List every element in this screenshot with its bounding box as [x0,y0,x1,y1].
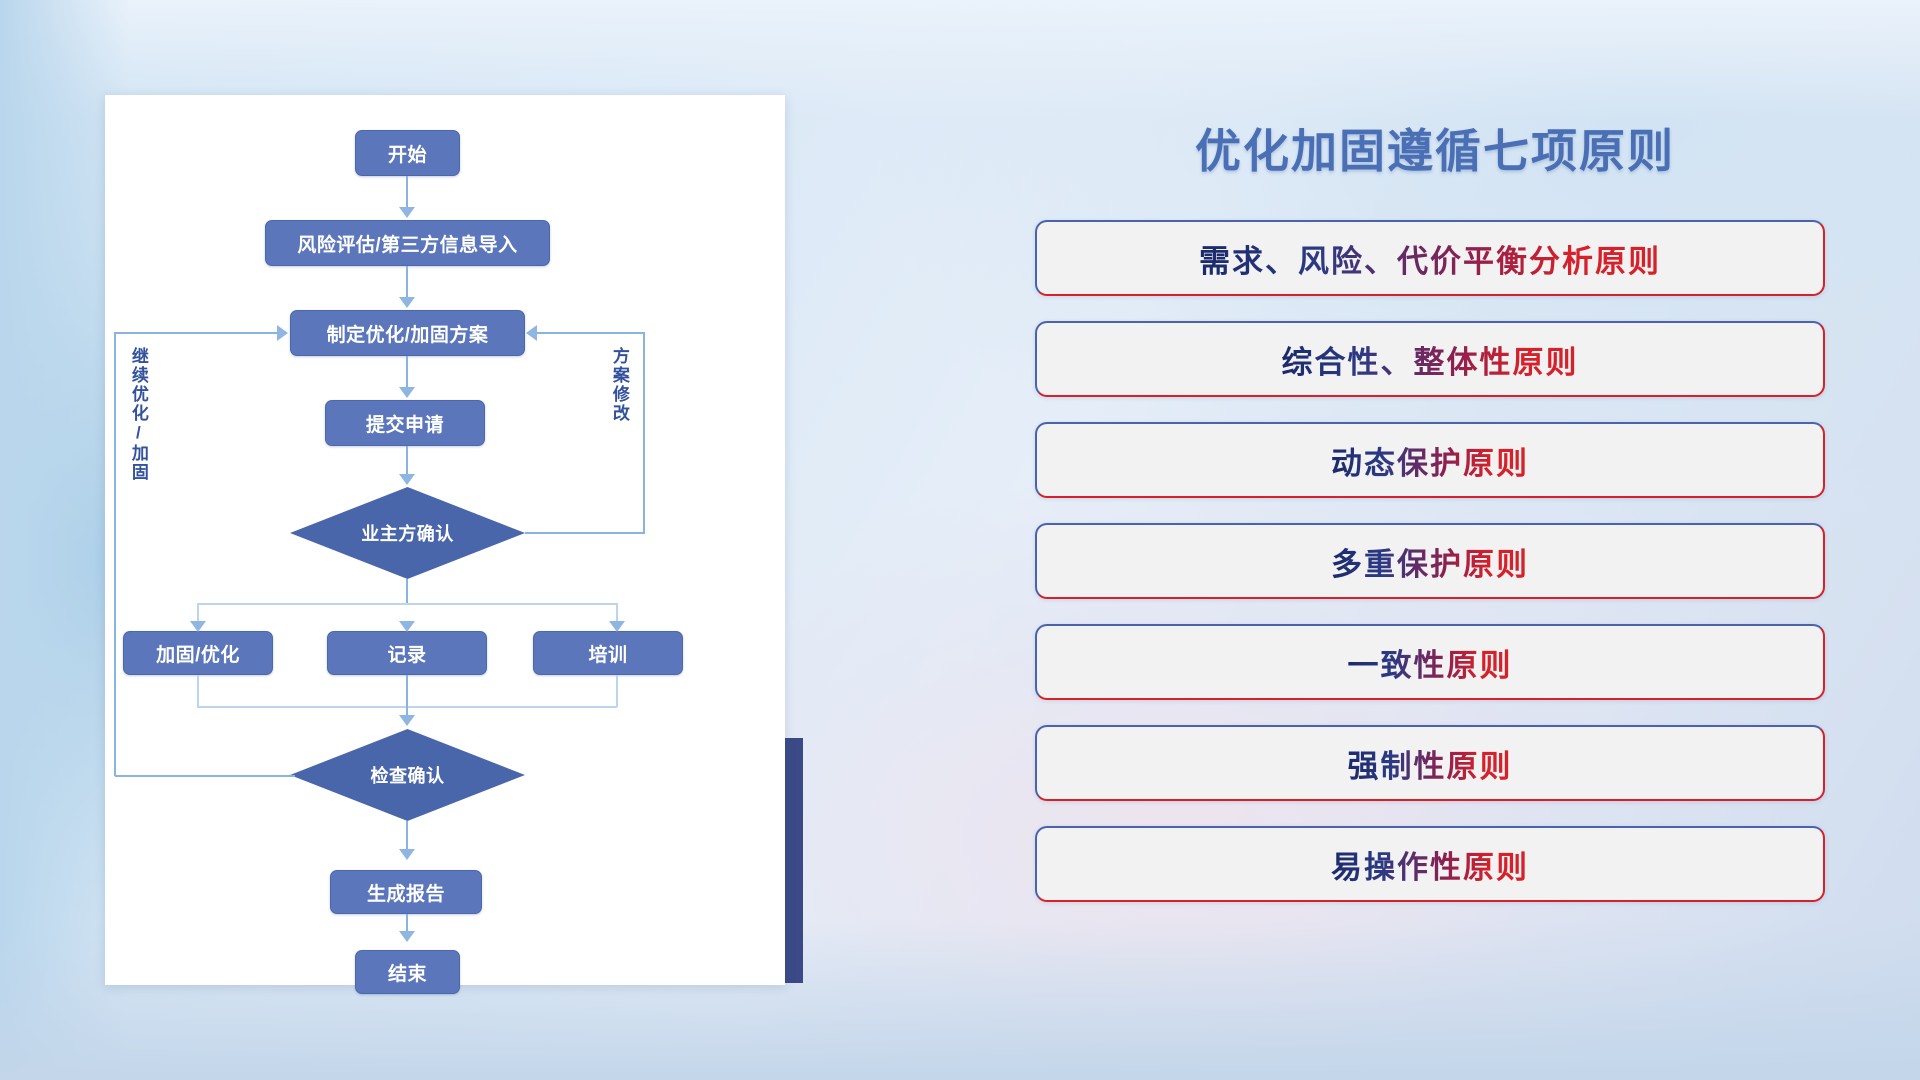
connector-submit-to-owner [406,446,408,476]
principle-card-1[interactable]: 需求、风险、代价平衡分析原则 [1035,220,1825,296]
flow-node-plan[interactable]: 制定优化/加固方案 [290,310,525,356]
flowchart-panel: 开始 风险评估/第三方信息导入 制定优化/加固方案 提交申请 业主方确认 加固/… [105,95,785,985]
connector-record-to-check [406,675,408,717]
principles-section: 优化加固遵循七项原则 需求、风险、代价平衡分析原则 综合性、整体性原则 动态保护… [1020,95,1850,1015]
flow-decision-owner-confirm[interactable]: 业主方确认 [290,487,525,579]
arrow-report-to-end [399,931,415,942]
connector-owner-right [525,532,645,534]
flow-side-label-right-loop: 方案修改 [610,347,628,487]
arrow-start-to-risk [399,207,415,218]
principle-card-7-label: 易操作性原则 [1331,842,1529,887]
flow-node-record[interactable]: 记录 [327,631,487,675]
principle-card-6[interactable]: 强制性原则 [1035,725,1825,801]
flow-node-reinforce-label: 加固/优化 [156,640,240,667]
connector-owner-right-up [643,333,645,533]
arrow-submit-to-owner [399,474,415,485]
flow-node-submit-label: 提交申请 [366,410,444,437]
arrow-to-record [399,621,415,632]
flow-node-training-label: 培训 [588,640,627,667]
flow-node-submit[interactable]: 提交申请 [325,400,485,446]
principle-card-4-label: 多重保护原则 [1331,539,1529,584]
principle-card-2[interactable]: 综合性、整体性原则 [1035,321,1825,397]
arrow-risk-to-plan [399,297,415,308]
connector-owner-down [406,579,408,604]
principles-title: 优化加固遵循七项原则 [1020,115,1850,181]
arrow-to-reinforce [190,621,206,632]
principle-card-1-label: 需求、风险、代价平衡分析原则 [1199,236,1661,281]
principle-card-7[interactable]: 易操作性原则 [1035,826,1825,902]
connector-reinforce-down [197,675,199,707]
connector-right-loop-to-plan [537,332,645,334]
principle-card-5[interactable]: 一致性原则 [1035,624,1825,700]
connector-report-to-end [406,914,408,932]
connector-left-loop-up [114,333,116,776]
principle-card-5-label: 一致性原则 [1348,640,1513,685]
principle-card-2-label: 综合性、整体性原则 [1282,337,1579,382]
flow-node-risk-assessment[interactable]: 风险评估/第三方信息导入 [265,220,550,266]
flow-node-start-label: 开始 [388,140,427,167]
flow-node-record-label: 记录 [387,640,426,667]
arrow-merge-to-check [399,715,415,726]
flow-decision-check[interactable]: 检查确认 [290,729,525,821]
arrow-plan-to-submit [399,387,415,398]
flow-node-reinforce[interactable]: 加固/优化 [123,631,273,675]
connector-plan-to-submit [406,356,408,389]
arrow-to-training [609,621,625,632]
flow-decision-check-label: 检查确认 [371,762,445,788]
flow-side-label-left-loop: 继续优化/加固 [129,347,147,527]
connector-training-down [616,675,618,707]
flow-node-training[interactable]: 培训 [533,631,683,675]
principle-card-4[interactable]: 多重保护原则 [1035,523,1825,599]
arrow-right-loop-to-plan [526,325,537,341]
flow-node-report-label: 生成报告 [367,879,445,906]
connector-check-to-report [406,821,408,851]
flow-node-report[interactable]: 生成报告 [330,870,482,914]
connector-check-left [115,775,295,777]
connector-owner-fanout [197,603,617,605]
connector-risk-to-plan [406,266,408,299]
principle-card-6-label: 强制性原则 [1348,741,1513,786]
flow-node-end[interactable]: 结束 [355,950,460,994]
flow-node-plan-label: 制定优化/加固方案 [327,320,489,347]
arrow-check-to-report [399,849,415,860]
flow-node-end-label: 结束 [388,959,427,986]
connector-left-loop-to-plan [114,332,279,334]
principle-card-3[interactable]: 动态保护原则 [1035,422,1825,498]
connector-start-to-risk [406,176,408,209]
flow-node-start[interactable]: 开始 [355,130,460,176]
flowchart-canvas: 开始 风险评估/第三方信息导入 制定优化/加固方案 提交申请 业主方确认 加固/… [105,95,785,985]
principle-card-3-label: 动态保护原则 [1331,438,1529,483]
arrow-left-loop-to-plan [277,325,288,341]
flow-node-risk-assessment-label: 风险评估/第三方信息导入 [297,230,517,257]
flow-decision-owner-confirm-label: 业主方确认 [361,520,454,546]
